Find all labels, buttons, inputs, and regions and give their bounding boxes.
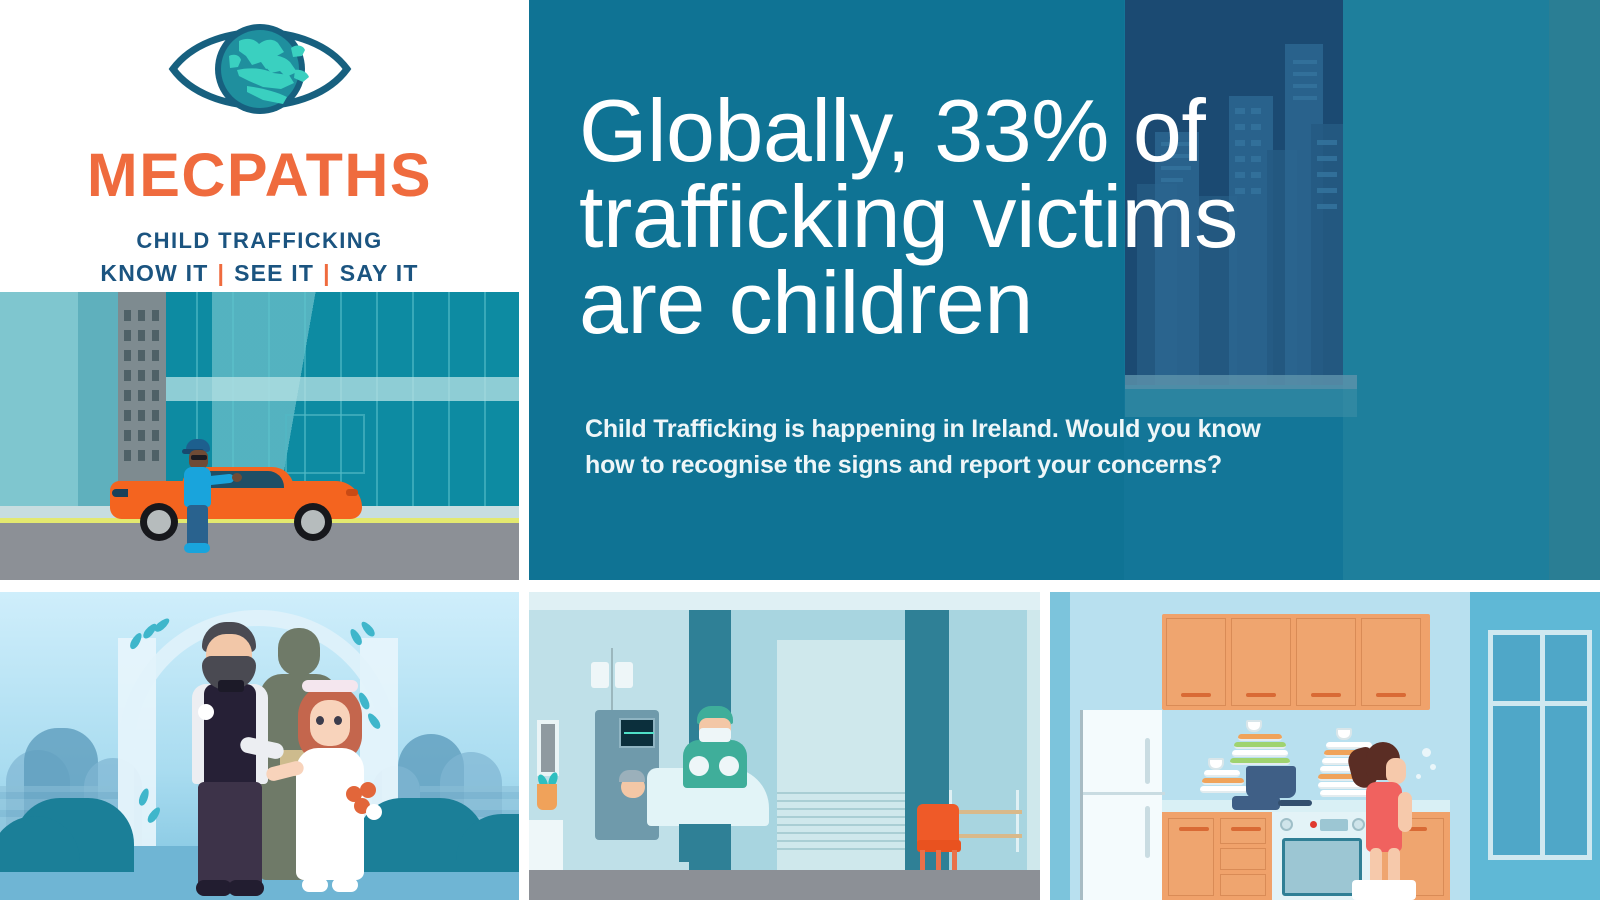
operating-theatre-scene [529, 592, 1040, 900]
forced-marriage-scene [0, 592, 519, 900]
iv-stand [591, 648, 633, 692]
scene-gallery [0, 592, 1600, 900]
brand-name: MECPATHS [87, 145, 432, 206]
brand-tagline-line2: KNOW IT | SEE IT | SAY IT [100, 260, 418, 287]
headline-line-1: Globally, 33% of [579, 88, 1379, 174]
child-washing-dishes [1358, 742, 1412, 900]
child-bride-figure [288, 678, 374, 900]
surgeon-figure [677, 706, 751, 786]
subtext-line-2: how to recognise the signs and report yo… [585, 448, 1345, 484]
tagline-know-it: KNOW IT [100, 260, 208, 287]
tagline-see-it: SEE IT [234, 260, 314, 287]
domestic-servitude-scene [1050, 592, 1600, 900]
street-car-scene [0, 292, 519, 580]
subtext-line-1: Child Trafficking is happening in Irelan… [585, 412, 1345, 448]
headline-line-2: trafficking victims [579, 174, 1379, 260]
hero-panel: Globally, 33% of trafficking victims are… [529, 0, 1600, 580]
dirty-dish-pile-left [1202, 738, 1312, 800]
boy-figure [182, 439, 216, 554]
brand-tagline-line1: CHILD TRAFFICKING [136, 228, 382, 254]
step-stool [1352, 880, 1416, 900]
hero-headline: Globally, 33% of trafficking victims are… [579, 88, 1379, 347]
eye-globe-icon [167, 8, 353, 135]
poster-root: MECPATHS CHILD TRAFFICKING KNOW IT | SEE… [0, 0, 1600, 900]
headline-line-3: are children [579, 260, 1379, 346]
waiting-chair [917, 804, 961, 870]
upper-cabinets [1162, 614, 1430, 710]
hero-subtext: Child Trafficking is happening in Irelan… [585, 412, 1345, 483]
lower-cabinets-left [1162, 812, 1272, 900]
refrigerator [1080, 710, 1162, 900]
groom-figure [178, 622, 282, 900]
kitchen-window [1488, 630, 1592, 860]
tagline-separator-1: | [217, 260, 225, 287]
tagline-say-it: SAY IT [340, 260, 419, 287]
brand-logo-panel: MECPATHS CHILD TRAFFICKING KNOW IT | SEE… [0, 0, 519, 292]
tagline-separator-2: | [323, 260, 331, 287]
